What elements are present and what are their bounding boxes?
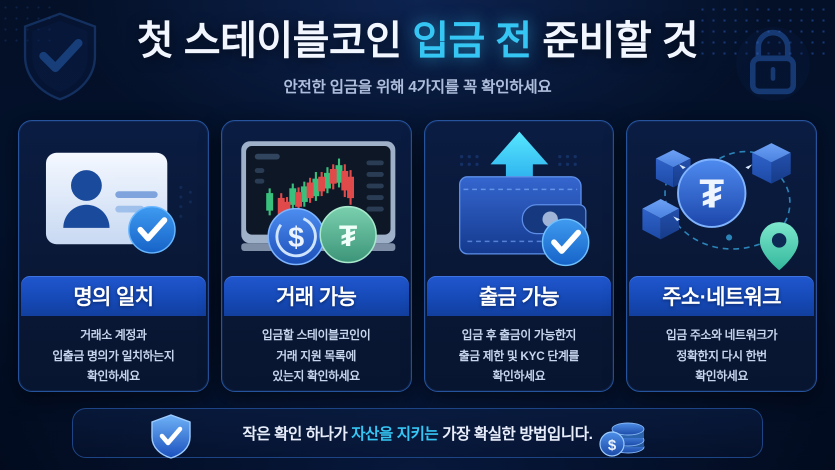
header: 첫 스테이블코인 입금 전 준비할 것 안전한 입금을 위해 4가지를 꼭 확인… — [0, 18, 835, 97]
title-highlight: 입금 전 — [412, 19, 532, 63]
card-title-band: 명의 일치 — [21, 276, 206, 316]
card-line: 입출금 명의가 일치하는지 — [52, 348, 174, 366]
illustration-network-address: ₮ — [627, 121, 816, 276]
footer-part2: 가장 확실한 방법입니다. — [438, 426, 592, 443]
title-part1: 첫 스테이블코인 — [137, 19, 412, 63]
card-line: 거래 지원 목록에 — [276, 348, 356, 366]
card-title-text: 주소·네트워크 — [662, 281, 781, 311]
card-line: 정확한지 다시 한번 — [676, 348, 766, 366]
coin-usdt-center: ₮ — [678, 159, 745, 226]
card-title-band: 주소·네트워크 — [629, 276, 814, 316]
location-pin-icon — [760, 222, 799, 270]
card-line: 출금 제한 및 KYC 단계를 — [459, 348, 579, 366]
illustration-wallet-withdraw — [425, 121, 614, 276]
card-line: 입금 후 출금이 가능한지 — [462, 327, 576, 345]
card-title-text: 거래 가능 — [276, 281, 356, 311]
card-title-text: 명의 일치 — [73, 281, 153, 311]
svg-text:$: $ — [288, 222, 304, 254]
cube-node — [643, 199, 680, 239]
illustration-trading-chart: $ ₮ — [222, 121, 411, 276]
page-title: 첫 스테이블코인 입금 전 준비할 것 — [0, 18, 835, 65]
coin-usdc: $ — [268, 209, 324, 265]
illustration-id-card — [19, 121, 208, 276]
card-trading-available[interactable]: $ ₮ 거래 가능 입금할 스테이블코인이 거래 지원 목록에 있는지 확인하세… — [221, 120, 412, 392]
svg-text:$: $ — [608, 437, 617, 454]
card-line: 입금할 스테이블코인이 — [262, 327, 371, 345]
cube-node — [752, 143, 791, 183]
card-name-match[interactable]: 명의 일치 거래소 계정과 입출금 명의가 일치하는지 확인하세요 — [18, 120, 209, 392]
card-body: 입금할 스테이블코인이 거래 지원 목록에 있는지 확인하세요 — [222, 316, 411, 391]
card-address-network[interactable]: ₮ 주소·네트워크 입금 주소와 네트워크가 정확한지 다시 한번 확인하세요 — [626, 120, 817, 392]
card-withdraw-available[interactable]: 출금 가능 입금 후 출금이 가능한지 출금 제한 및 KYC 단계를 확인하세… — [424, 120, 615, 392]
card-line: 확인하세요 — [695, 368, 748, 386]
card-body: 거래소 계정과 입출금 명의가 일치하는지 확인하세요 — [19, 316, 208, 391]
card-line: 확인하세요 — [87, 368, 140, 386]
coin-stack-icon: $ — [594, 415, 650, 457]
footer-banner: 작은 확인 하나가 자산을 지키는 가장 확실한 방법입니다. $ — [72, 408, 763, 458]
card-title-band: 출금 가능 — [427, 276, 612, 316]
svg-text:₮: ₮ — [700, 171, 725, 217]
card-body: 입금 주소와 네트워크가 정확한지 다시 한번 확인하세요 — [627, 316, 816, 391]
card-line: 있는지 확인하세요 — [272, 368, 359, 386]
card-line: 확인하세요 — [492, 368, 545, 386]
shield-check-badge-icon — [149, 413, 193, 459]
footer-highlight: 자산을 지키는 — [351, 426, 438, 443]
footer-part1: 작은 확인 하나가 — [242, 426, 351, 443]
page-subtitle: 안전한 입금을 위해 4가지를 꼭 확인하세요 — [0, 75, 835, 97]
footer-text: 작은 확인 하나가 자산을 지키는 가장 확실한 방법입니다. — [242, 422, 592, 444]
card-line: 입금 주소와 네트워크가 — [666, 327, 778, 345]
card-title-band: 거래 가능 — [224, 276, 409, 316]
card-title-text: 출금 가능 — [479, 281, 559, 311]
card-body: 입금 후 출금이 가능한지 출금 제한 및 KYC 단계를 확인하세요 — [425, 316, 614, 391]
svg-text:₮: ₮ — [339, 220, 357, 253]
card-line: 거래소 계정과 — [80, 327, 146, 345]
coin-usdt: ₮ — [320, 207, 376, 263]
title-part2: 준비할 것 — [532, 19, 698, 63]
card-list: 명의 일치 거래소 계정과 입출금 명의가 일치하는지 확인하세요 — [18, 120, 817, 392]
